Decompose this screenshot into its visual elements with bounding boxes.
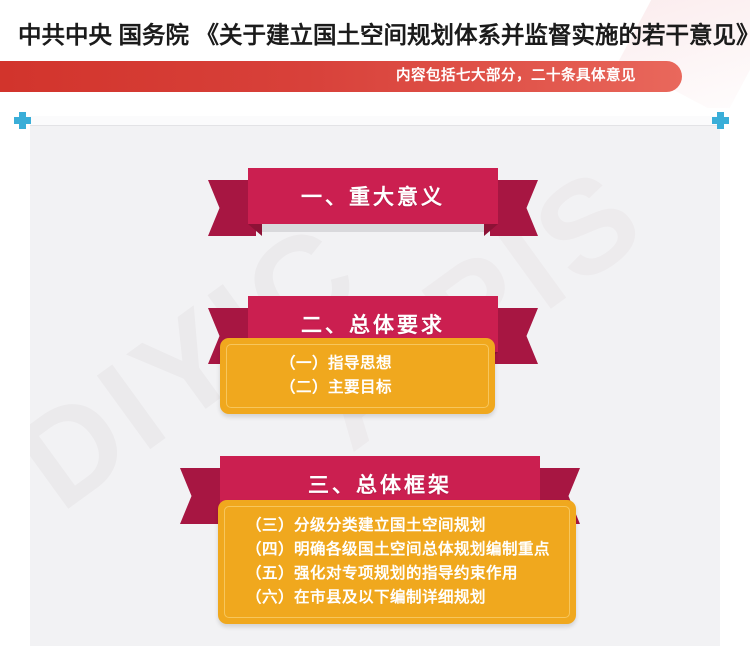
plus-bar-vertical <box>717 112 724 129</box>
header-subtitle: 内容包括七大部分，二十条具体意见 <box>396 61 636 92</box>
content-list-3: （三）分级分类建立国土空间规划 （四）明确各级国土空间总体规划编制重点 （五）强… <box>218 500 576 624</box>
content-box-3: （三）分级分类建立国土空间规划 （四）明确各级国土空间总体规划编制重点 （五）强… <box>218 500 576 624</box>
list-item[interactable]: （一）指导思想 <box>280 352 495 376</box>
ribbon-title: 二、总体要求 <box>301 309 445 339</box>
panel-top-strip <box>30 116 720 126</box>
ribbon-title: 一、重大意义 <box>301 181 445 211</box>
ribbon-title: 三、总体框架 <box>308 469 452 499</box>
list-item[interactable]: （三）分级分类建立国土空间规划 <box>246 514 576 538</box>
list-item[interactable]: （四）明确各级国土空间总体规划编制重点 <box>246 538 576 562</box>
list-item[interactable]: （二）主要目标 <box>280 376 495 400</box>
list-item[interactable]: （六）在市县及以下编制详细规划 <box>246 586 576 610</box>
content-list-2: （一）指导思想 （二）主要目标 <box>220 338 495 414</box>
ribbon-banner-1[interactable]: 一、重大意义 <box>208 168 538 224</box>
ribbon-band: 一、重大意义 <box>248 168 498 224</box>
plus-bar-vertical <box>19 112 26 129</box>
list-item[interactable]: （五）强化对专项规划的指导约束作用 <box>246 562 576 586</box>
header-subtitle-bar: 内容包括七大部分，二十条具体意见 <box>0 61 682 92</box>
plus-marker-icon-right <box>712 112 729 129</box>
page-header: 中共中央 国务院 《关于建立国土空间规划体系并监督实施的若干意见》 内容包括七大… <box>0 0 750 108</box>
plus-marker-icon-left <box>14 112 31 129</box>
content-box-2: （一）指导思想 （二）主要目标 <box>220 338 495 414</box>
content-panel: DIYIC AIPIS 一、重大意义 （一）指导思想 （二）主要目标 <box>30 116 720 646</box>
page-title: 中共中央 国务院 《关于建立国土空间规划体系并监督实施的若干意见》 <box>18 20 734 50</box>
